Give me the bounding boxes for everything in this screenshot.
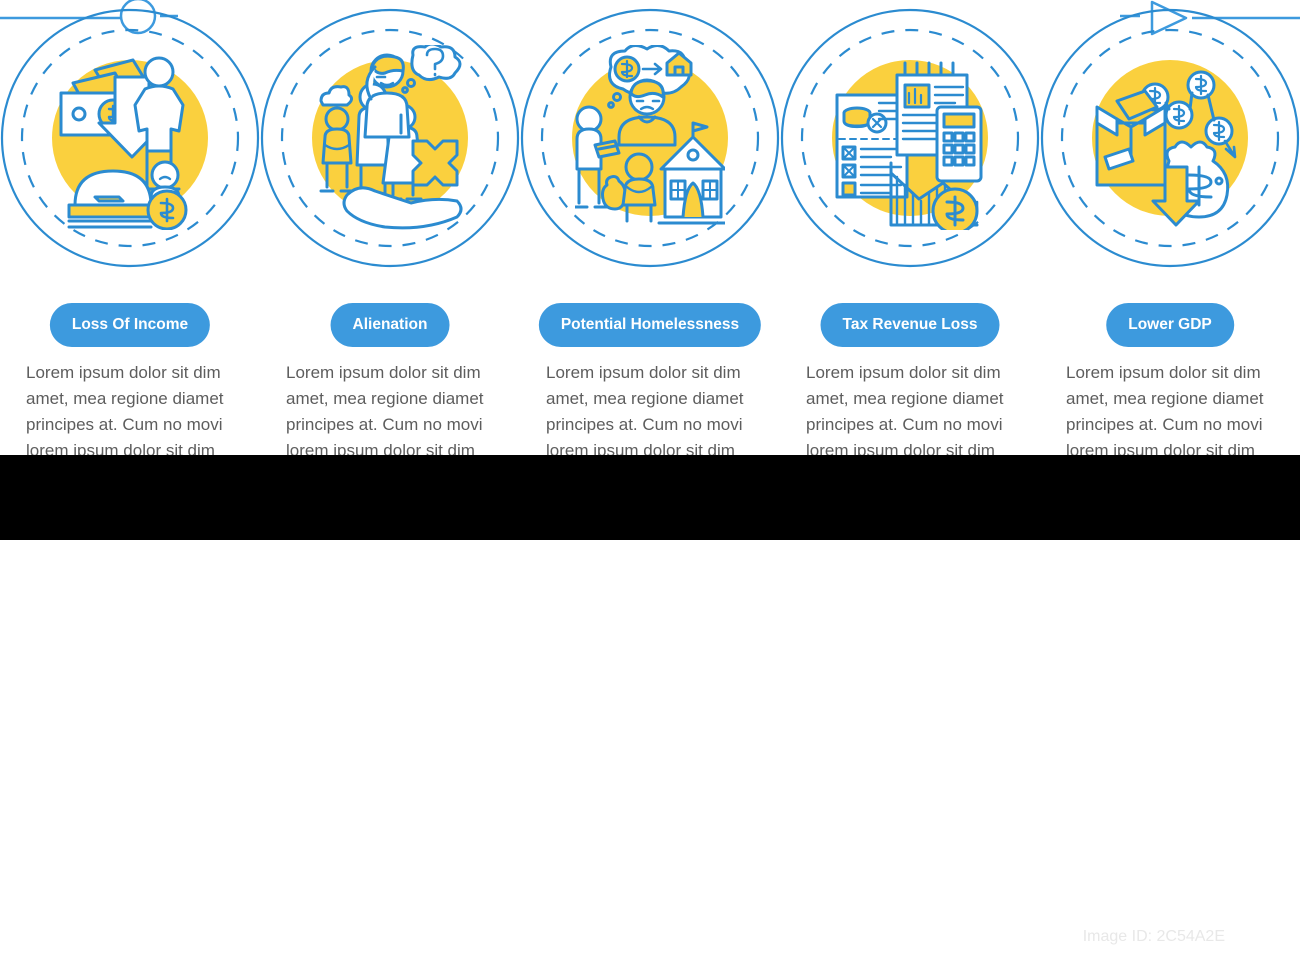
step-circle-graphic <box>260 0 520 290</box>
step-circle-graphic <box>0 0 260 290</box>
family-confused-person-reject-hand-icon <box>315 45 465 230</box>
step-item[interactable]: 4 Tax Revenue Loss Lorem ipsum dolor sit… <box>780 0 1040 455</box>
step-description: Lorem ipsum dolor sit dim amet, mea regi… <box>26 360 238 455</box>
alamy-logo: alamy <box>48 925 139 974</box>
money-down-arrow-person-icon <box>55 45 205 230</box>
image-id-label: Image ID: 2C54A2E <box>1083 928 1225 946</box>
step-item[interactable]: 2 Alienation Lorem ipsum dolor sit dim a… <box>260 0 520 455</box>
alamy-url: www.alamy.com <box>1072 952 1225 975</box>
step-circle-graphic <box>520 0 780 290</box>
tax-documents-calculator-declining-chart-icon <box>835 45 985 230</box>
step-description: Lorem ipsum dolor sit dim amet, mea regi… <box>546 360 758 455</box>
step-label-pill[interactable]: Loss Of Income <box>50 303 210 347</box>
step-item[interactable]: 1 Loss Of Income Lorem ipsum dolor sit d… <box>0 0 260 455</box>
step-label-pill[interactable]: Tax Revenue Loss <box>821 303 1000 347</box>
step-description: Lorem ipsum dolor sit dim amet, mea regi… <box>1066 360 1278 455</box>
step-description: Lorem ipsum dolor sit dim amet, mea regi… <box>286 360 498 455</box>
open-box-money-bag-declining-dollars-icon <box>1095 45 1245 230</box>
step-item[interactable]: 3 Potential Homelessness Lorem ipsum dol… <box>520 0 780 455</box>
step-description: Lorem ipsum dolor sit dim amet, mea regi… <box>806 360 1018 455</box>
infographic-canvas: 1 Loss Of Income Lorem ipsum dolor sit d… <box>0 0 1300 455</box>
step-label-pill[interactable]: Lower GDP <box>1106 303 1234 347</box>
step-label-pill[interactable]: Alienation <box>331 303 450 347</box>
step-circle-graphic <box>780 0 1040 290</box>
sad-person-money-house-tent-icon <box>575 45 725 230</box>
step-item[interactable]: 5 Lower GDP Lorem ipsum dolor sit dim am… <box>1040 0 1300 455</box>
step-circle-graphic <box>1040 0 1300 290</box>
step-label-pill[interactable]: Potential Homelessness <box>539 303 761 347</box>
watermark-bar: alamy Image ID: 2C54A2E www.alamy.com <box>0 455 1300 540</box>
step-list: 1 Loss Of Income Lorem ipsum dolor sit d… <box>0 0 1300 455</box>
